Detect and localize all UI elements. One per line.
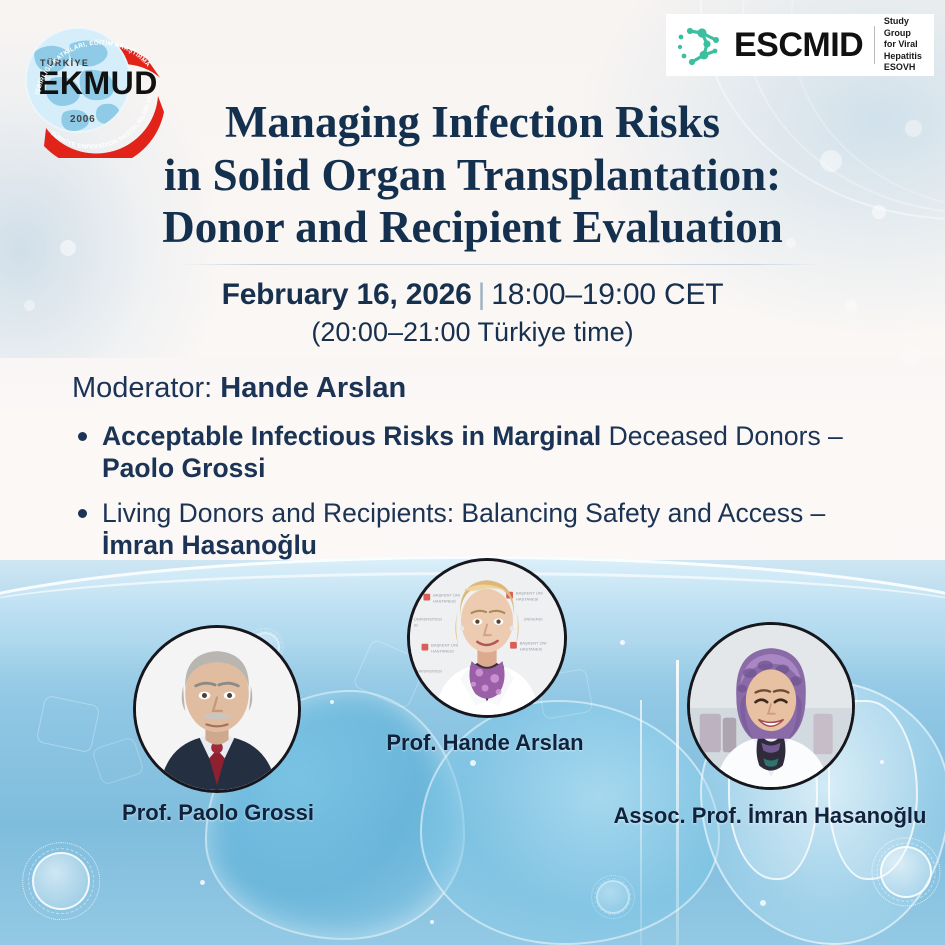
title-line-1: Managing Infection Risks — [0, 96, 945, 149]
portrait-illustration — [690, 625, 852, 787]
avatar: BAŞKENT ÜNİ HASTANESİ BAŞKENT ÜNİ HASTAN… — [407, 558, 567, 718]
speaker-name-imran-hasanoglu: Assoc. Prof. İmran Hasanoğlu — [560, 803, 945, 829]
escmid-molecule-icon — [676, 23, 730, 67]
datetime-primary: February 16, 2026|18:00–19:00 CET — [0, 276, 945, 314]
avatar — [133, 625, 301, 793]
datetime-separator: | — [472, 278, 492, 311]
svg-text:ÜNİVERSİ: ÜNİVERSİ — [524, 617, 543, 622]
talk-speaker: Paolo Grossi — [102, 453, 265, 483]
talk-title-rest: Living Donors and Recipients: Balancing … — [102, 498, 825, 528]
title-line-3: Donor and Recipient Evaluation — [0, 201, 945, 254]
talk-item: Living Donors and Recipients: Balancing … — [72, 497, 892, 562]
svg-text:ÜNİVERSİTESİ: ÜNİVERSİTESİ — [414, 617, 442, 622]
event-time-cet: 18:00–19:00 CET — [491, 278, 723, 311]
speaker-name-paolo-grossi: Prof. Paolo Grossi — [8, 800, 428, 826]
moderator-line: Moderator: Hande Arslan — [72, 370, 892, 408]
avatar — [687, 622, 855, 790]
event-time-local: (20:00–21:00 Türkiye time) — [0, 316, 945, 350]
svg-text:BAŞKENT ÜNİ: BAŞKENT ÜNİ — [520, 641, 547, 646]
moderator-name: Hande Arslan — [220, 372, 406, 404]
svg-text:BAŞKENT ÜNİ: BAŞKENT ÜNİ — [433, 593, 460, 598]
talk-item: Acceptable Infectious Risks in Marginal … — [72, 420, 892, 485]
talk-title-emphasis: Acceptable Infectious Risks in Marginal — [102, 421, 601, 451]
event-datetime: February 16, 2026|18:00–19:00 CET (20:00… — [0, 276, 945, 349]
escmid-wordmark: ESCMID — [734, 28, 863, 62]
escmid-subtitle-line-1: Study Group — [884, 16, 928, 39]
svg-text:ÜNİVERSİTESİ: ÜNİVERSİTESİ — [414, 669, 442, 674]
speaker-name-hande-arslan: Prof. Hande Arslan — [335, 730, 635, 756]
program-block: Moderator: Hande Arslan Acceptable Infec… — [72, 370, 892, 562]
svg-text:BAŞKENT ÜNİ: BAŞKENT ÜNİ — [431, 643, 458, 648]
speaker-photo-imran-hasanoglu — [687, 622, 855, 790]
escmid-logo: ESCMID Study Group for Viral Hepatitis E… — [666, 14, 934, 76]
portrait-illustration — [136, 628, 298, 790]
moderator-label: Moderator: — [72, 372, 212, 404]
svg-text:HASTANESİ: HASTANESİ — [433, 598, 456, 603]
webinar-poster: TÜRKİYE EKMUD 2006 İŞBİRLİĞİ, KATKILARI,… — [0, 0, 945, 945]
svg-text:HASTANESİ: HASTANESİ — [516, 596, 539, 601]
escmid-divider — [874, 26, 875, 64]
bullet-icon — [78, 509, 87, 518]
title-divider — [180, 264, 820, 265]
title-line-2: in Solid Organ Transplantation: — [0, 149, 945, 202]
svg-text:Sİ: Sİ — [414, 622, 418, 627]
escmid-subtitle-line-3: ESOVH — [884, 62, 928, 74]
event-date: February 16, 2026 — [222, 278, 472, 311]
page-title: Managing Infection Risks in Solid Organ … — [0, 96, 945, 254]
svg-text:BAŞKENT ÜNİ: BAŞKENT ÜNİ — [516, 591, 543, 596]
escmid-subtitle-line-2: for Viral Hepatitis — [884, 39, 928, 62]
speaker-photo-hande-arslan: BAŞKENT ÜNİ HASTANESİ BAŞKENT ÜNİ HASTAN… — [407, 558, 567, 718]
escmid-subtitle: Study Group for Viral Hepatitis ESOVH — [884, 16, 928, 74]
talk-speaker: İmran Hasanoğlu — [102, 530, 317, 560]
speaker-photo-paolo-grossi — [133, 625, 301, 793]
portrait-illustration: BAŞKENT ÜNİ HASTANESİ BAŞKENT ÜNİ HASTAN… — [410, 561, 564, 715]
talk-title-rest: Deceased Donors – — [601, 421, 843, 451]
svg-text:HASTANESİ: HASTANESİ — [431, 648, 454, 653]
svg-text:HASTANESİ: HASTANESİ — [520, 647, 543, 652]
bullet-icon — [78, 432, 87, 441]
